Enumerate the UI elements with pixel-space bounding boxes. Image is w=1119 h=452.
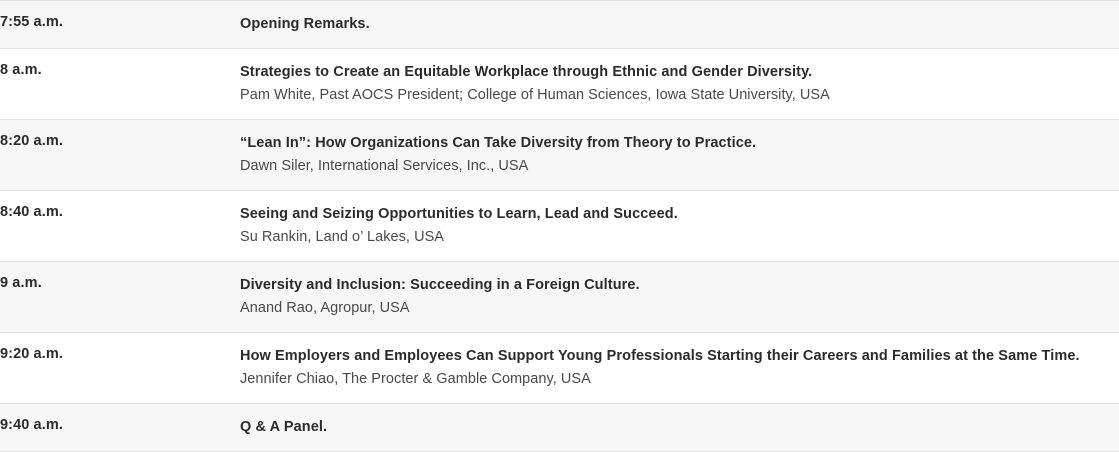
session-speaker: Su Rankin, Land o’ Lakes, USA (240, 226, 1111, 248)
session-title: Opening Remarks. (240, 13, 1111, 35)
session-time: 7:55 a.m. (0, 1, 240, 49)
session-details: Opening Remarks. (240, 1, 1119, 49)
session-details: Strategies to Create an Equitable Workpl… (240, 49, 1119, 120)
session-title: Strategies to Create an Equitable Workpl… (240, 61, 1111, 83)
session-speaker: Dawn Siler, International Services, Inc.… (240, 155, 1111, 177)
table-row: 8:20 a.m. “Lean In”: How Organizations C… (0, 120, 1119, 191)
session-time: 9 a.m. (0, 262, 240, 333)
session-speaker: Anand Rao, Agropur, USA (240, 297, 1111, 319)
table-row: 7:55 a.m. Opening Remarks. (0, 1, 1119, 49)
table-row: 8:40 a.m. Seeing and Seizing Opportuniti… (0, 191, 1119, 262)
session-details: Seeing and Seizing Opportunities to Lear… (240, 191, 1119, 262)
session-details: How Employers and Employees Can Support … (240, 333, 1119, 404)
session-time: 8 a.m. (0, 49, 240, 120)
session-title: “Lean In”: How Organizations Can Take Di… (240, 132, 1111, 154)
table-row: 9:40 a.m. Q & A Panel. (0, 404, 1119, 452)
session-time: 8:20 a.m. (0, 120, 240, 191)
session-time: 9:20 a.m. (0, 333, 240, 404)
schedule-table-body: 7:55 a.m. Opening Remarks. 8 a.m. Strate… (0, 1, 1119, 452)
session-details: “Lean In”: How Organizations Can Take Di… (240, 120, 1119, 191)
session-details: Q & A Panel. (240, 404, 1119, 452)
session-speaker: Pam White, Past AOCS President; College … (240, 84, 1111, 106)
session-time: 8:40 a.m. (0, 191, 240, 262)
session-time: 9:40 a.m. (0, 404, 240, 452)
session-details: Diversity and Inclusion: Succeeding in a… (240, 262, 1119, 333)
session-speaker: Jennifer Chiao, The Procter & Gamble Com… (240, 368, 1111, 390)
session-title: Seeing and Seizing Opportunities to Lear… (240, 203, 1111, 225)
session-title: Q & A Panel. (240, 416, 1111, 438)
session-title: Diversity and Inclusion: Succeeding in a… (240, 274, 1111, 296)
session-title: How Employers and Employees Can Support … (240, 345, 1111, 367)
table-row: 9:20 a.m. How Employers and Employees Ca… (0, 333, 1119, 404)
table-row: 8 a.m. Strategies to Create an Equitable… (0, 49, 1119, 120)
session-schedule-table: 7:55 a.m. Opening Remarks. 8 a.m. Strate… (0, 0, 1119, 452)
table-row: 9 a.m. Diversity and Inclusion: Succeedi… (0, 262, 1119, 333)
